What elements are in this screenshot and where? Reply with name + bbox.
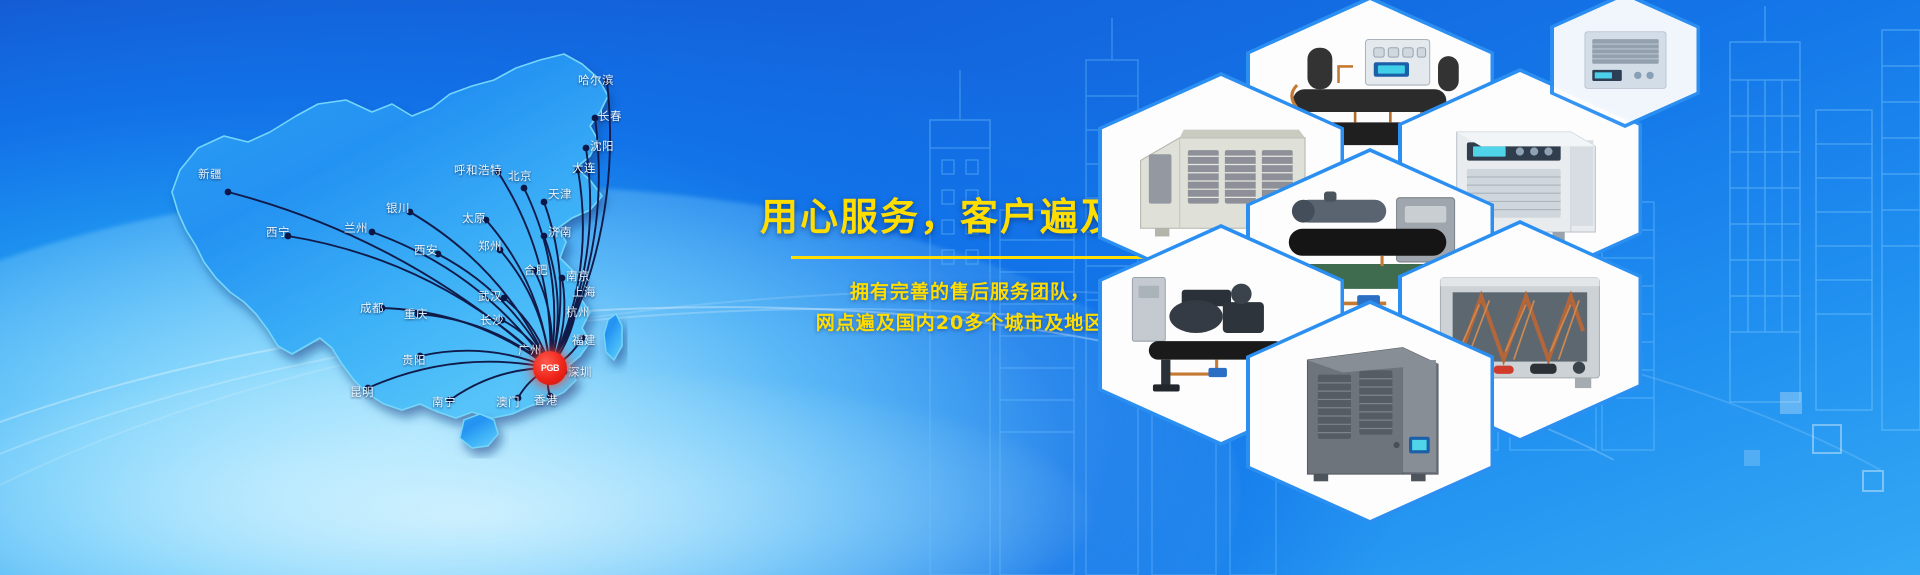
city-dot-9[interactable] [483, 217, 490, 224]
city-dot-30[interactable] [515, 395, 522, 402]
city-dot-23[interactable] [579, 335, 586, 342]
service-network-banner: 哈尔滨长春沈阳呼和浩特北京大连天津新疆银川太原兰州西宁西安郑州济南合肥南京武汉重… [0, 0, 1920, 575]
hainan-island [460, 414, 498, 448]
city-dot-12[interactable] [435, 251, 442, 258]
city-dot-16[interactable] [559, 275, 566, 282]
city-dot-15[interactable] [531, 267, 538, 274]
vertical-chiller-icon [1266, 319, 1473, 505]
city-dot-6[interactable] [541, 199, 548, 206]
city-dot-7[interactable] [225, 189, 232, 196]
city-dot-26[interactable] [447, 397, 454, 404]
city-dot-8[interactable] [407, 209, 414, 216]
city-dot-1[interactable] [592, 115, 599, 122]
city-dot-27[interactable] [529, 349, 536, 356]
hub-marker-label: PGB [541, 363, 559, 373]
city-dot-25[interactable] [365, 385, 372, 392]
product-photo-cluster [1150, 0, 1920, 575]
city-dot-17[interactable] [501, 295, 508, 302]
city-dot-22[interactable] [569, 309, 576, 316]
city-dot-10[interactable] [369, 229, 376, 236]
city-dot-14[interactable] [541, 233, 548, 240]
city-dot-24[interactable] [417, 353, 424, 360]
hub-marker-shenzhen[interactable]: PGB [533, 351, 567, 385]
city-dot-11[interactable] [285, 233, 292, 240]
city-dot-19[interactable] [379, 305, 386, 312]
headline-underline-rule [791, 256, 1149, 259]
city-dot-3[interactable] [495, 169, 502, 176]
city-dot-13[interactable] [497, 247, 504, 254]
city-dot-21[interactable] [575, 289, 582, 296]
taiwan-island [604, 314, 622, 360]
air-cooled-box-chiller-icon [1564, 5, 1687, 115]
city-dot-20[interactable] [499, 317, 506, 324]
city-dot-0[interactable] [604, 79, 611, 86]
city-dot-29[interactable] [547, 393, 554, 400]
city-dot-4[interactable] [521, 185, 528, 192]
city-dot-2[interactable] [583, 145, 590, 152]
china-service-map: 哈尔滨长春沈阳呼和浩特北京大连天津新疆银川太原兰州西宁西安郑州济南合肥南京武汉重… [120, 20, 760, 540]
city-dot-18[interactable] [415, 311, 422, 318]
city-dot-5[interactable] [575, 167, 582, 174]
